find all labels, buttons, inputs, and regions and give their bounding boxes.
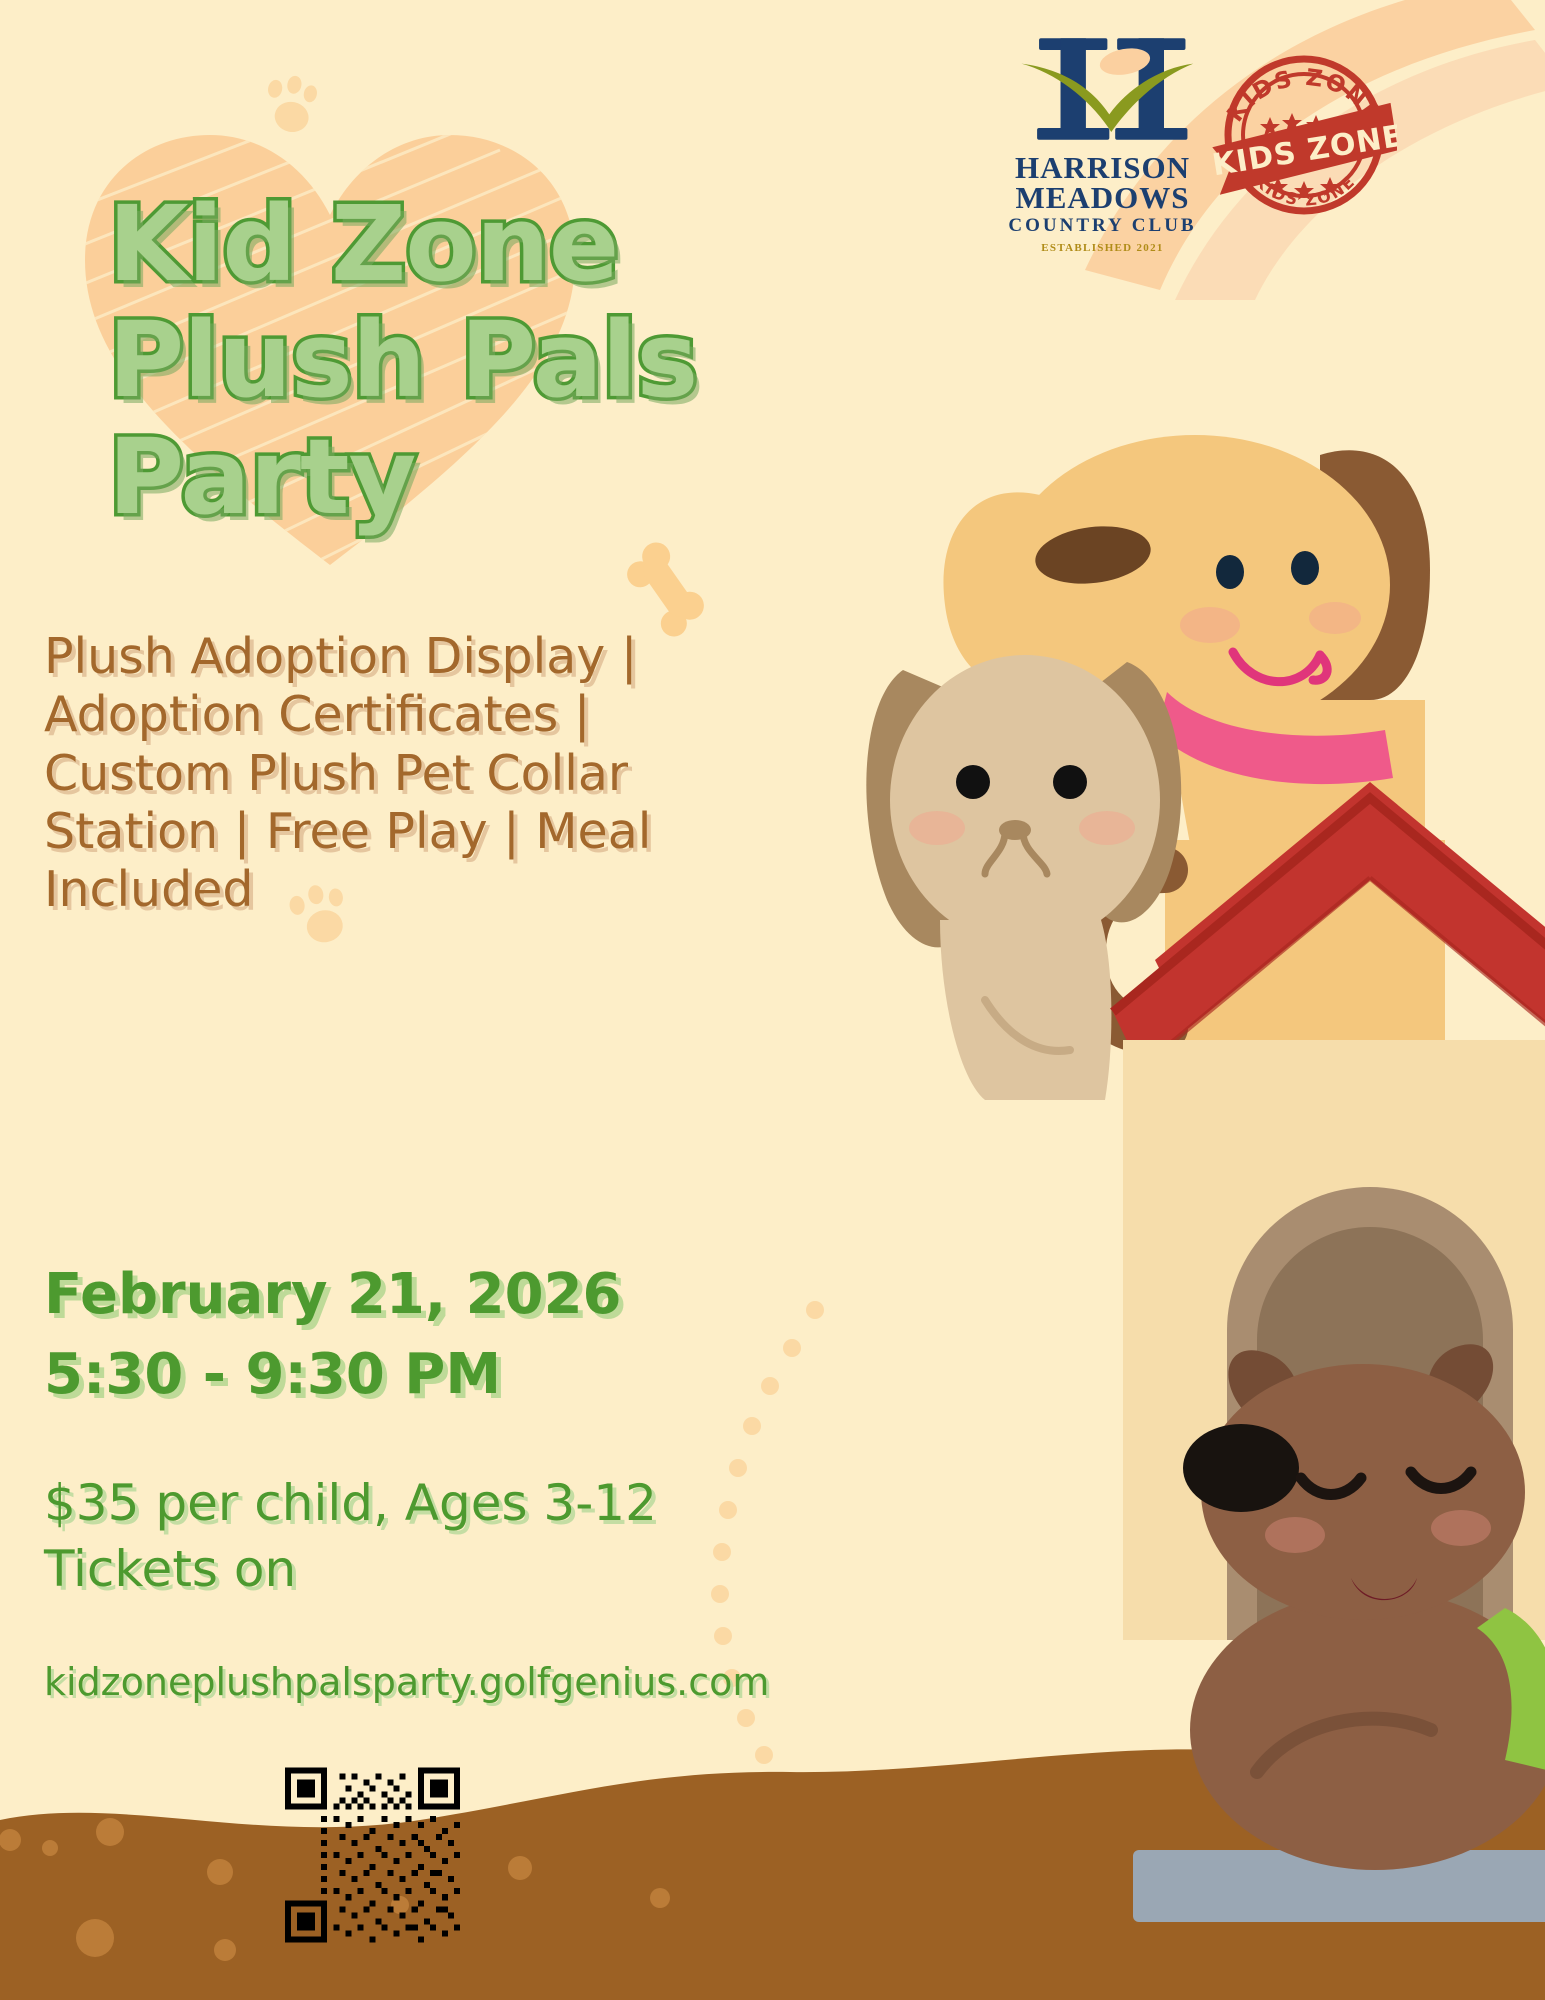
qr-code[interactable] — [285, 1765, 460, 1945]
logo-established: ESTABLISHED 2021 — [1000, 242, 1205, 254]
kids-zone-stamp-icon: KIDS ZONE KIDS ZONE KIDS ZONE — [1212, 45, 1397, 220]
headline-line-3: Party — [108, 419, 898, 535]
logo-line-meadows: MEADOWS — [1000, 183, 1205, 213]
plush-dogs-illustration — [865, 400, 1545, 2000]
event-datetime: February 21, 2026 5:30 - 9:30 PM — [44, 1255, 744, 1414]
poster-canvas: HARRISON MEADOWS COUNTRY CLUB ESTABLISHE… — [0, 0, 1545, 2000]
ticket-url[interactable]: kidzoneplushpalsparty.golfgenius.com — [44, 1660, 904, 1704]
headline-line-2: Plush Pals — [108, 302, 898, 418]
headline-line-1: Kid Zone — [108, 186, 898, 302]
event-time: 5:30 - 9:30 PM — [44, 1335, 744, 1415]
ticket-info: $35 per child, Ages 3-12 Tickets on — [44, 1470, 804, 1602]
ticket-price: $35 per child, Ages 3-12 — [44, 1470, 804, 1536]
qr-code-icon[interactable] — [285, 1765, 460, 1945]
features-list: Plush Adoption Display | Adoption Certif… — [44, 628, 704, 919]
logo-line-harrison: HARRISON — [1000, 153, 1205, 183]
harrison-meadows-logo: HARRISON MEADOWS COUNTRY CLUB ESTABLISHE… — [1000, 30, 1205, 254]
harrison-meadows-monogram-h-icon — [1000, 30, 1205, 148]
paw-print-icon — [251, 70, 324, 151]
ticket-cta: Tickets on — [44, 1536, 804, 1602]
logo-line-country-club: COUNTRY CLUB — [1000, 217, 1205, 236]
event-date: February 21, 2026 — [44, 1255, 744, 1335]
page-title: Kid Zone Plush Pals Party — [108, 186, 898, 535]
